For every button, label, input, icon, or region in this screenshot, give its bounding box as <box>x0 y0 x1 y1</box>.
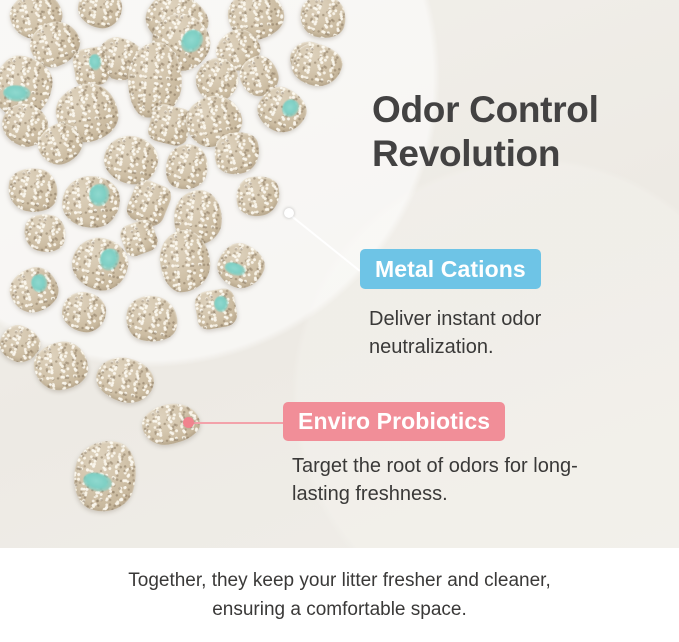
advertisement-panel: Odor Control Revolution Metal Cations De… <box>0 0 679 642</box>
litter-granule <box>158 228 212 293</box>
litter-granule <box>68 234 132 295</box>
litter-granule <box>32 339 91 392</box>
litter-granule <box>232 171 284 220</box>
headline-line-2: Revolution <box>372 132 672 176</box>
litter-granule <box>92 352 158 407</box>
litter-granule <box>5 262 63 318</box>
litter-granule <box>4 163 62 216</box>
leader-line-enviro-probiotics <box>188 422 283 424</box>
litter-granule <box>59 289 108 335</box>
page-title: Odor Control Revolution <box>372 88 672 175</box>
litter-granule <box>212 237 270 294</box>
headline-line-1: Odor Control <box>372 89 599 130</box>
badge-metal-cations: Metal Cations <box>360 249 541 289</box>
litter-granule <box>65 433 144 519</box>
litter-granule <box>193 287 239 331</box>
litter-granule <box>121 290 183 347</box>
footer-band: Together, they keep your litter fresher … <box>0 548 679 642</box>
description-enviro-probiotics: Target the root of odors for long-lastin… <box>292 452 592 509</box>
litter-granule <box>295 0 351 44</box>
description-metal-cations-line-2: neutralization. <box>369 336 494 358</box>
callout-marker-metal-cations <box>284 208 294 218</box>
badge-enviro-probiotics: Enviro Probiotics <box>283 402 505 441</box>
litter-granule <box>75 0 124 31</box>
description-metal-cations-line-1: Deliver instant odor <box>369 308 541 330</box>
litter-granule <box>289 40 346 90</box>
callout-marker-enviro-probiotics <box>183 417 194 428</box>
footer-tagline: Together, they keep your litter fresher … <box>128 566 550 625</box>
description-enviro-probiotics-line-1: Target the root of odors for <box>292 455 528 477</box>
description-metal-cations: Deliver instant odor neutralization. <box>369 305 659 362</box>
footer-tagline-line-1: Together, they keep your litter fresher … <box>128 566 550 595</box>
footer-tagline-line-2: ensuring a comfortable space. <box>128 595 550 624</box>
